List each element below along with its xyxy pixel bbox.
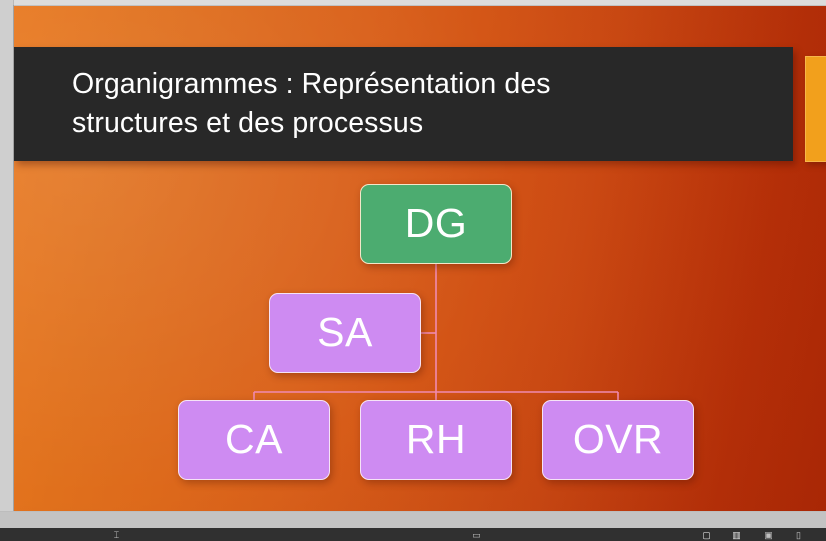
org-node-ca[interactable]: CA: [178, 400, 330, 480]
slide-canvas[interactable]: Organigrammes : Représentation des struc…: [14, 6, 826, 511]
org-node-ca-label: CA: [225, 419, 283, 460]
org-node-dg-label: DG: [405, 203, 468, 244]
powerpoint-editing-window: Organigrammes : Représentation des struc…: [0, 0, 826, 541]
notes-icon[interactable]: ⌶: [110, 530, 123, 541]
org-node-rh-label: RH: [406, 419, 466, 460]
normal-view-icon[interactable]: ▢: [700, 530, 713, 541]
org-node-ovr-label: OVR: [573, 419, 663, 460]
page-title: Organigrammes : Représentation des struc…: [72, 65, 769, 143]
comments-icon[interactable]: ▭: [470, 530, 483, 541]
accent-rectangle[interactable]: [805, 56, 826, 162]
reading-view-icon[interactable]: ▣: [762, 530, 775, 541]
slide-sorter-icon[interactable]: ▥: [730, 530, 743, 541]
slide-title-placeholder[interactable]: Organigrammes : Représentation des struc…: [14, 47, 793, 161]
slideshow-icon[interactable]: ▯: [792, 530, 805, 541]
org-node-rh[interactable]: RH: [360, 400, 512, 480]
org-node-sa-label: SA: [317, 312, 373, 353]
org-node-ovr[interactable]: OVR: [542, 400, 694, 480]
org-node-sa[interactable]: SA: [269, 293, 421, 373]
bottom-toolbar[interactable]: ⌶ ▭ ▢ ▥ ▣ ▯: [0, 528, 826, 541]
left-gutter: [0, 0, 14, 528]
status-bar: [0, 511, 826, 528]
org-node-dg[interactable]: DG: [360, 184, 512, 264]
